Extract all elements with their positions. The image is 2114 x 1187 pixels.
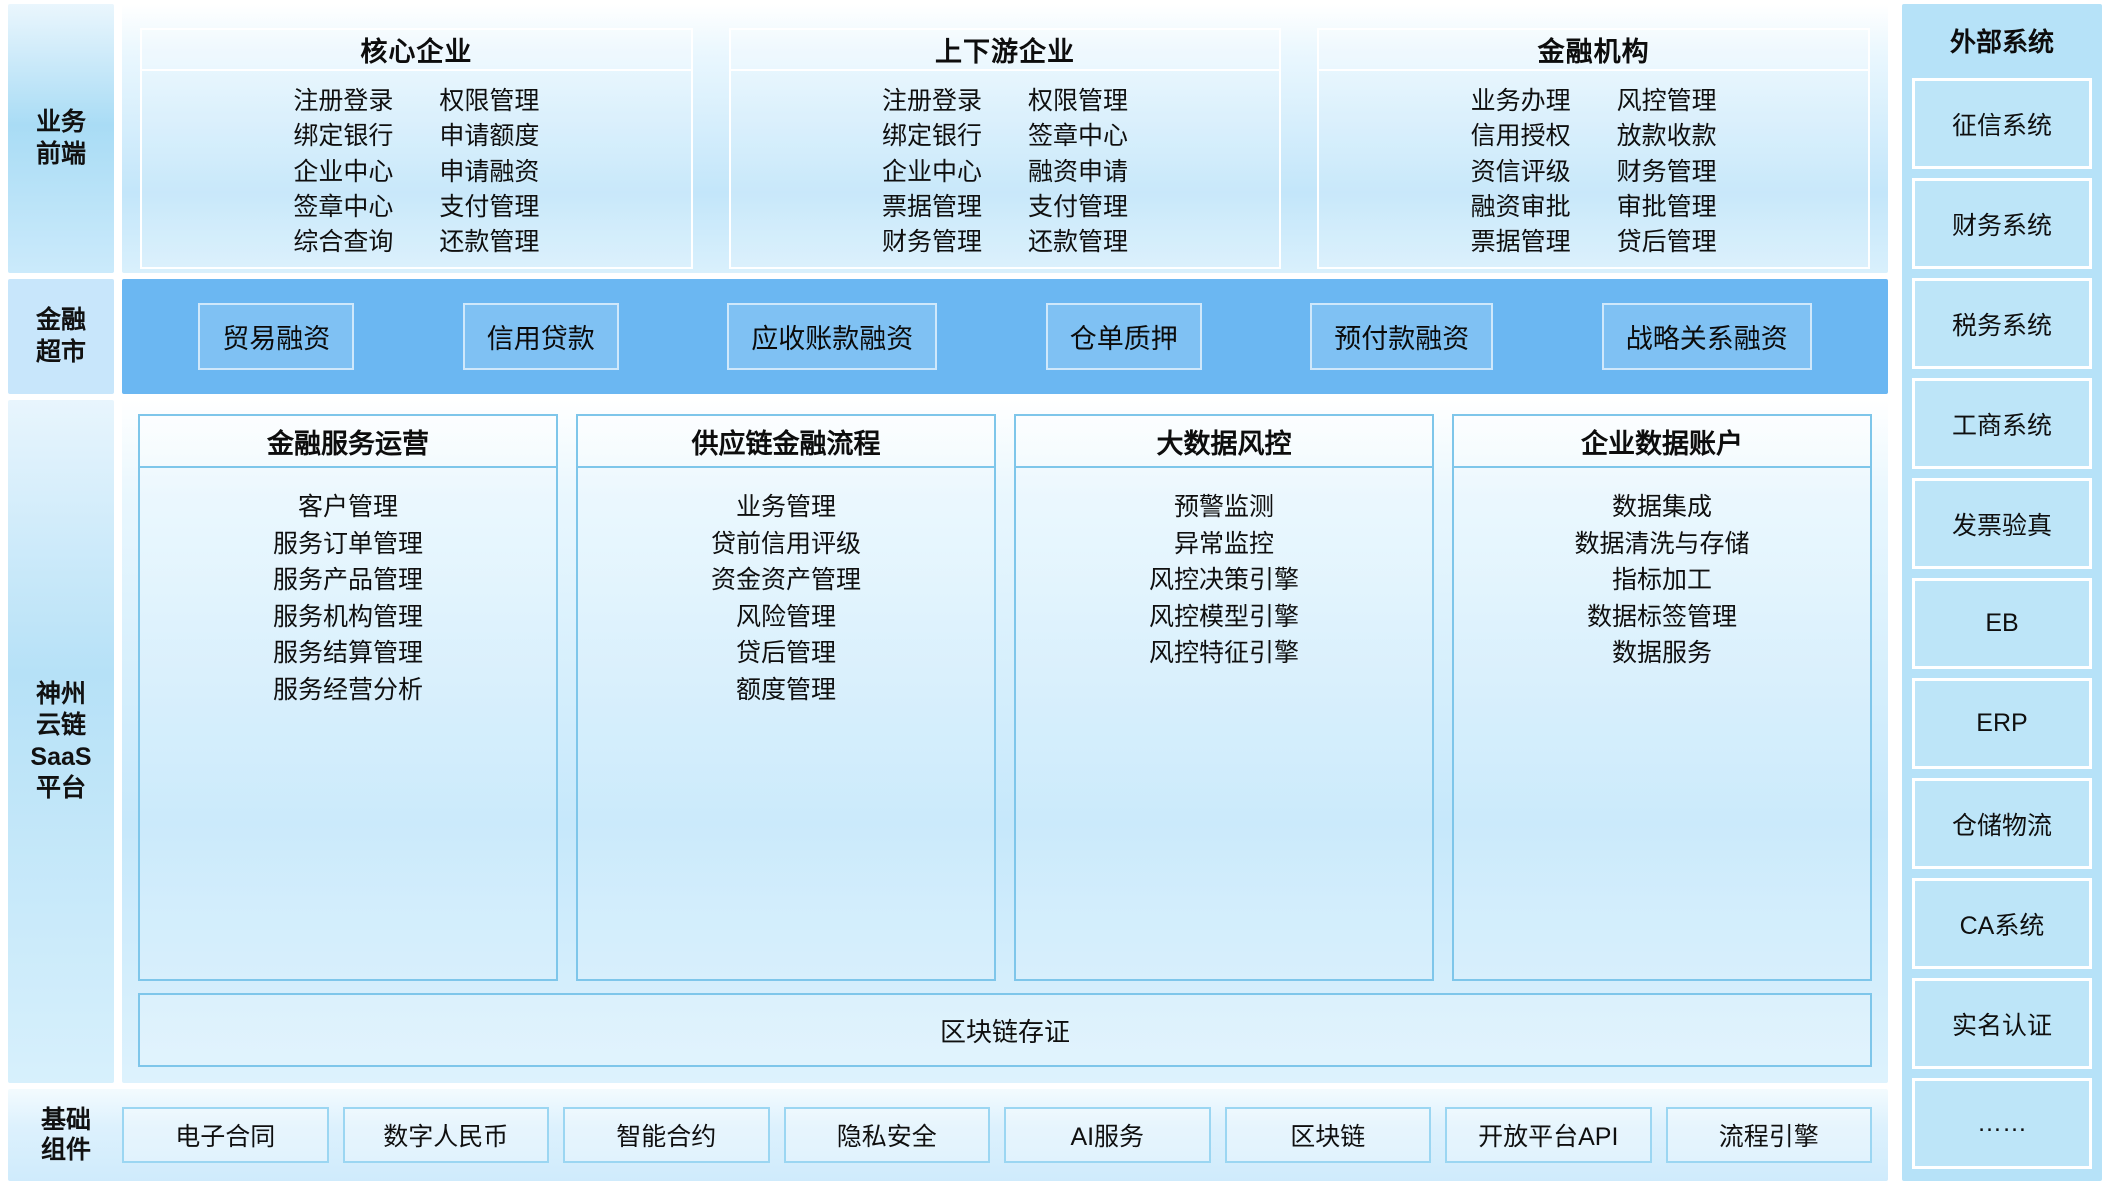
row-saas-platform: 神州 云链 SaaS 平台 金融服务运营 客户管理 服务订单管理 服务产品管理 … [8, 400, 1888, 1083]
card-upstream-downstream-enterprise[interactable]: 上下游企业 注册登录 绑定银行 企业中心 票据管理 财务管理 权限管理 签章中心 [729, 28, 1282, 251]
chip-receivables-finance[interactable]: 应收账款融资 [727, 303, 937, 370]
card-content: 业务办理 信用授权 资信评级 融资审批 票据管理 风控管理 放款收款 财务管理 … [1317, 71, 1870, 269]
list-item[interactable]: 财务管理 [1617, 156, 1717, 189]
chip-electronic-contract[interactable]: 电子合同 [122, 1107, 329, 1163]
card-content: 注册登录 绑定银行 企业中心 票据管理 财务管理 权限管理 签章中心 融资申请 … [729, 71, 1282, 269]
list-item[interactable]: 服务结算管理 [273, 636, 423, 672]
row-label-saas-platform: 神州 云链 SaaS 平台 [8, 400, 114, 1083]
saas-card-group: 金融服务运营 客户管理 服务订单管理 服务产品管理 服务机构管理 服务结算管理 … [138, 414, 1872, 981]
card-title: 金融机构 [1317, 28, 1870, 71]
list-item[interactable]: 贷前信用评级 [711, 527, 861, 563]
finance-supermarket-chips: 贸易融资 信用贷款 应收账款融资 仓单质押 预付款融资 战略关系融资 [122, 279, 1888, 394]
chip-credit-loan[interactable]: 信用贷款 [463, 303, 619, 370]
chip-blockchain[interactable]: 区块链 [1225, 1107, 1432, 1163]
list-item[interactable]: 绑定银行 [293, 120, 393, 153]
card-supply-chain-finance-process[interactable]: 供应链金融流程 业务管理 贷前信用评级 资金资产管理 风险管理 贷后管理 额度管… [576, 414, 996, 981]
list-item[interactable]: 申请额度 [439, 120, 539, 153]
external-systems-panel: 外部系统 征信系统 财务系统 税务系统 工商系统 发票验真 EB ERP 仓储物… [1902, 4, 2102, 1181]
external-chip-erp[interactable]: ERP [1912, 678, 2092, 769]
list-item[interactable]: 审批管理 [1617, 191, 1717, 224]
list-item[interactable]: 融资申请 [1028, 156, 1128, 189]
list-item[interactable]: 额度管理 [736, 673, 836, 709]
card-content: 数据集成 数据清洗与存储 指标加工 数据标签管理 数据服务 [1452, 468, 1872, 981]
row-label-line-2: 组件 [24, 1135, 108, 1165]
card-column-left: 注册登录 绑定银行 企业中心 签章中心 综合查询 [293, 85, 393, 259]
list-item[interactable]: 放款收款 [1617, 120, 1717, 153]
list-item[interactable]: 数据服务 [1612, 636, 1712, 672]
row-label-line-1: 业务 [36, 107, 86, 139]
list-item[interactable]: 信用授权 [1471, 120, 1571, 153]
chip-open-platform-api[interactable]: 开放平台API [1445, 1107, 1652, 1163]
list-item[interactable]: 企业中心 [882, 156, 982, 189]
external-chip-finance-system[interactable]: 财务系统 [1912, 178, 2092, 269]
base-components-content: 基础 组件 电子合同 数字人民币 智能合约 隐私安全 AI服务 区块链 开放平台… [8, 1089, 1888, 1181]
list-item[interactable]: 资金资产管理 [711, 563, 861, 599]
external-chip-credit-reporting[interactable]: 征信系统 [1912, 78, 2092, 169]
card-title: 大数据风控 [1014, 414, 1434, 468]
row-label-line-4: 平台 [30, 773, 91, 805]
card-column-left: 业务办理 信用授权 资信评级 融资审批 票据管理 [1471, 85, 1571, 259]
card-core-enterprise[interactable]: 核心企业 注册登录 绑定银行 企业中心 签章中心 综合查询 权限管理 申请额度 [140, 28, 693, 251]
list-item[interactable]: 签章中心 [1028, 120, 1128, 153]
external-chip-eb[interactable]: EB [1912, 578, 2092, 669]
list-item[interactable]: 注册登录 [293, 85, 393, 118]
list-item[interactable]: 签章中心 [293, 191, 393, 224]
list-item[interactable]: 申请融资 [439, 156, 539, 189]
chip-warehouse-receipt-pledge[interactable]: 仓单质押 [1046, 303, 1202, 370]
external-chip-ca-system[interactable]: CA系统 [1912, 878, 2092, 969]
list-item[interactable]: 贷后管理 [736, 636, 836, 672]
card-column-right: 权限管理 申请额度 申请融资 支付管理 还款管理 [439, 85, 539, 259]
row-label-line-1: 金融 [36, 305, 86, 337]
card-financial-institution[interactable]: 金融机构 业务办理 信用授权 资信评级 融资审批 票据管理 风控管理 放款收款 [1317, 28, 1870, 251]
list-item[interactable]: 服务订单管理 [273, 527, 423, 563]
chip-trade-finance[interactable]: 贸易融资 [198, 303, 354, 370]
card-content: 注册登录 绑定银行 企业中心 签章中心 综合查询 权限管理 申请额度 申请融资 … [140, 71, 693, 269]
external-chip-ellipsis[interactable]: …… [1912, 1078, 2092, 1169]
list-item[interactable]: 服务产品管理 [273, 563, 423, 599]
list-item[interactable]: 业务管理 [736, 490, 836, 526]
list-item[interactable]: 数据清洗与存储 [1574, 527, 1749, 563]
list-item[interactable]: 权限管理 [439, 85, 539, 118]
list-item[interactable]: 企业中心 [293, 156, 393, 189]
row-base-components: 基础 组件 电子合同 数字人民币 智能合约 隐私安全 AI服务 区块链 开放平台… [8, 1089, 1888, 1181]
list-item[interactable]: 数据集成 [1612, 490, 1712, 526]
row-label-line-2: 前端 [36, 139, 86, 171]
external-chip-invoice-verification[interactable]: 发票验真 [1912, 478, 2092, 569]
card-content: 业务管理 贷前信用评级 资金资产管理 风险管理 贷后管理 额度管理 [576, 468, 996, 981]
list-item[interactable]: 服务经营分析 [273, 673, 423, 709]
chip-process-engine[interactable]: 流程引擎 [1666, 1107, 1873, 1163]
list-item[interactable]: 资信评级 [1471, 156, 1571, 189]
row-label-finance-supermarket: 金融 超市 [8, 279, 114, 394]
external-chip-tax-system[interactable]: 税务系统 [1912, 278, 2092, 369]
chip-smart-contract[interactable]: 智能合约 [563, 1107, 770, 1163]
card-content: 预警监测 异常监控 风控决策引擎 风控模型引擎 风控特征引擎 [1014, 468, 1434, 981]
list-item[interactable]: 票据管理 [1471, 226, 1571, 259]
card-title: 企业数据账户 [1452, 414, 1872, 468]
list-item[interactable]: 还款管理 [439, 226, 539, 259]
card-column-right: 风控管理 放款收款 财务管理 审批管理 贷后管理 [1617, 85, 1717, 259]
list-item[interactable]: 数据标签管理 [1587, 600, 1737, 636]
list-item[interactable]: 指标加工 [1612, 563, 1712, 599]
row-label-line-2: 超市 [36, 337, 86, 369]
chip-ai-service[interactable]: AI服务 [1004, 1107, 1211, 1163]
list-item[interactable]: 权限管理 [1028, 85, 1128, 118]
chip-digital-rmb[interactable]: 数字人民币 [343, 1107, 550, 1163]
row-label-line-3: SaaS [30, 742, 91, 774]
list-item[interactable]: 支付管理 [1028, 191, 1128, 224]
list-item[interactable]: 风险管理 [736, 600, 836, 636]
external-systems-column: 外部系统 征信系统 财务系统 税务系统 工商系统 发票验真 EB ERP 仓储物… [1896, 0, 2114, 1187]
external-chip-business-registration-system[interactable]: 工商系统 [1912, 378, 2092, 469]
row-label-line-1: 神州 [30, 679, 91, 711]
card-title: 金融服务运营 [138, 414, 558, 468]
card-enterprise-data-account[interactable]: 企业数据账户 数据集成 数据清洗与存储 指标加工 数据标签管理 数据服务 [1452, 414, 1872, 981]
chip-privacy-security[interactable]: 隐私安全 [784, 1107, 991, 1163]
list-item[interactable]: 票据管理 [882, 191, 982, 224]
list-item[interactable]: 注册登录 [882, 85, 982, 118]
list-item[interactable]: 业务办理 [1471, 85, 1571, 118]
row-label-base-components: 基础 组件 [24, 1105, 108, 1165]
business-frontend-cards: 核心企业 注册登录 绑定银行 企业中心 签章中心 综合查询 权限管理 申请额度 [122, 4, 1888, 273]
base-chip-group: 电子合同 数字人民币 智能合约 隐私安全 AI服务 区块链 开放平台API 流程… [122, 1107, 1872, 1163]
list-item[interactable]: 服务机构管理 [273, 600, 423, 636]
card-title: 上下游企业 [729, 28, 1282, 71]
saas-platform-content: 金融服务运营 客户管理 服务订单管理 服务产品管理 服务机构管理 服务结算管理 … [122, 400, 1888, 1083]
list-item[interactable]: 还款管理 [1028, 226, 1128, 259]
row-label-line-1: 基础 [24, 1105, 108, 1135]
list-item[interactable]: 风控决策引擎 [1149, 563, 1299, 599]
card-big-data-risk-control[interactable]: 大数据风控 预警监测 异常监控 风控决策引擎 风控模型引擎 风控特征引擎 [1014, 414, 1434, 981]
blockchain-evidence-bar[interactable]: 区块链存证 [138, 993, 1872, 1067]
list-item[interactable]: 融资审批 [1471, 191, 1571, 224]
list-item[interactable]: 异常监控 [1174, 527, 1274, 563]
external-chip-warehouse-logistics[interactable]: 仓储物流 [1912, 778, 2092, 869]
architecture-diagram: 业务 前端 核心企业 注册登录 绑定银行 企业中心 签章中心 综合查询 [0, 0, 2114, 1187]
list-item[interactable]: 贷后管理 [1617, 226, 1717, 259]
row-label-line-2: 云链 [30, 710, 91, 742]
list-item[interactable]: 综合查询 [293, 226, 393, 259]
card-financial-service-operation[interactable]: 金融服务运营 客户管理 服务订单管理 服务产品管理 服务机构管理 服务结算管理 … [138, 414, 558, 981]
main-column: 业务 前端 核心企业 注册登录 绑定银行 企业中心 签章中心 综合查询 [0, 0, 1896, 1187]
card-title: 核心企业 [140, 28, 693, 71]
card-content: 客户管理 服务订单管理 服务产品管理 服务机构管理 服务结算管理 服务经营分析 [138, 468, 558, 981]
list-item[interactable]: 风控管理 [1617, 85, 1717, 118]
row-business-frontend: 业务 前端 核心企业 注册登录 绑定银行 企业中心 签章中心 综合查询 [8, 4, 1888, 273]
card-title: 供应链金融流程 [576, 414, 996, 468]
list-item[interactable]: 客户管理 [298, 490, 398, 526]
chip-prepayment-finance[interactable]: 预付款融资 [1310, 303, 1493, 370]
list-item[interactable]: 财务管理 [882, 226, 982, 259]
row-label-business-frontend: 业务 前端 [8, 4, 114, 273]
list-item[interactable]: 风控模型引擎 [1149, 600, 1299, 636]
list-item[interactable]: 风控特征引擎 [1149, 636, 1299, 672]
external-systems-title: 外部系统 [1912, 14, 2092, 69]
chip-strategic-relation-finance[interactable]: 战略关系融资 [1602, 303, 1812, 370]
row-finance-supermarket: 金融 超市 贸易融资 信用贷款 应收账款融资 仓单质押 预付款融资 战略关系融资 [8, 279, 1888, 394]
list-item[interactable]: 绑定银行 [882, 120, 982, 153]
card-column-left: 注册登录 绑定银行 企业中心 票据管理 财务管理 [882, 85, 982, 259]
list-item[interactable]: 预警监测 [1174, 490, 1274, 526]
card-column-right: 权限管理 签章中心 融资申请 支付管理 还款管理 [1028, 85, 1128, 259]
list-item[interactable]: 支付管理 [439, 191, 539, 224]
external-chip-real-name-authentication[interactable]: 实名认证 [1912, 978, 2092, 1069]
